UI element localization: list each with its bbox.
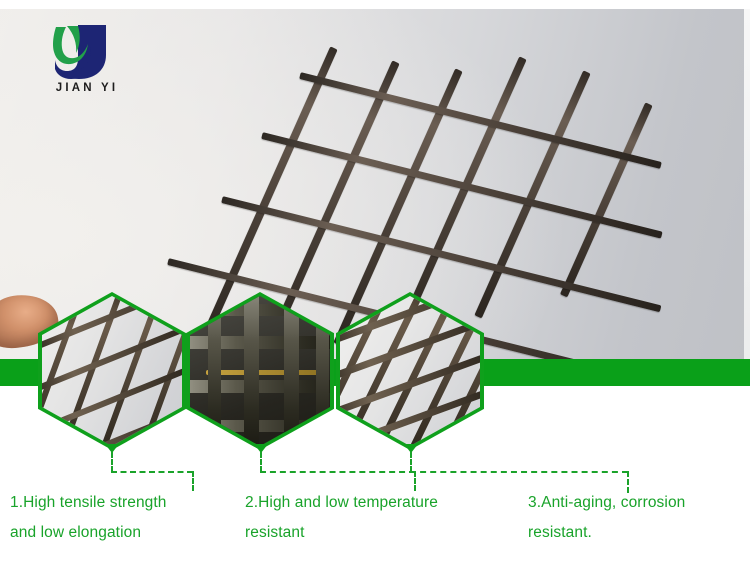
hexagon-photo-dense-weave-icon — [190, 296, 330, 446]
callout-1-hexagon[interactable] — [38, 292, 186, 450]
hexagon-photo-regular-grid-icon — [340, 296, 480, 446]
product-feature-banner: 1.High tensile strength and low elongati… — [0, 0, 750, 581]
callout-2-hexagon[interactable] — [186, 292, 334, 450]
brand-name: JIAN YI — [34, 82, 140, 94]
leaf-j-swoosh-logo-icon — [34, 22, 140, 80]
hexagon-photo-open-mesh-icon — [42, 296, 182, 446]
feature-caption-1: 1.High tensile strength and low elongati… — [10, 488, 240, 548]
callout-3-hexagon[interactable] — [336, 292, 484, 450]
feature-caption-3: 3.Anti-aging, corrosion resistant. — [528, 488, 750, 548]
feature-caption-2: 2.High and low temperature resistant — [245, 488, 495, 548]
brand-logo[interactable]: JIAN YI — [34, 22, 140, 104]
